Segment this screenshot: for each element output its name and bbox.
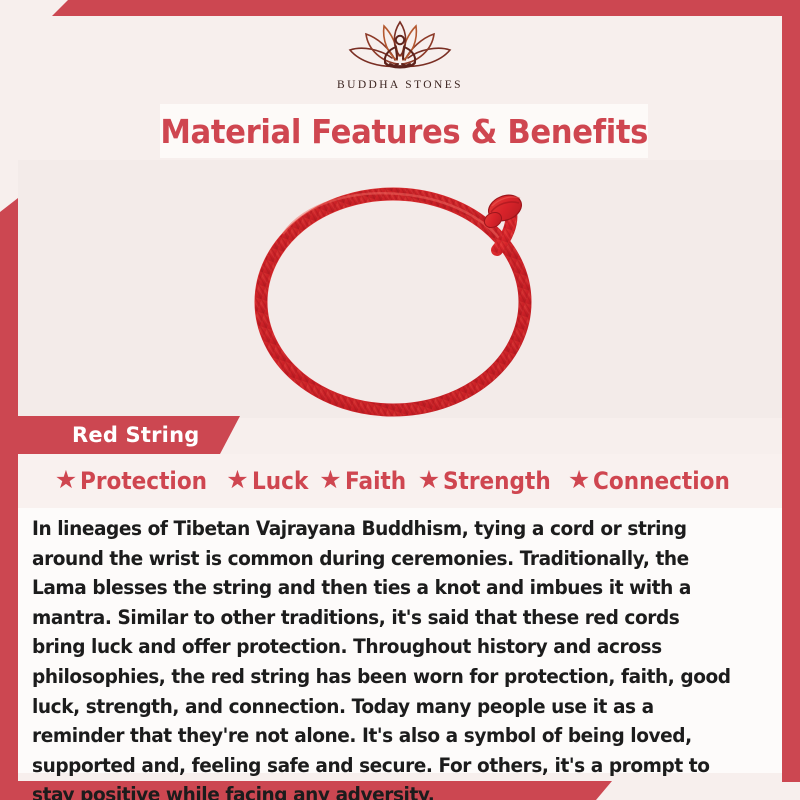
brand-wordmark: BUDDHA STONES <box>337 79 463 91</box>
page-title-text: Material Features & Benefits <box>160 112 648 151</box>
product-image <box>18 160 782 418</box>
star-icon: ★ <box>226 468 248 493</box>
infographic-page: BUDDHA STONES Material Features & Benefi… <box>0 0 800 800</box>
description-text: In lineages of Tibetan Vajrayana Buddhis… <box>32 514 735 800</box>
feature-item-faith: ★ Faith <box>319 467 412 495</box>
star-icon: ★ <box>568 468 590 493</box>
left-accent-band <box>0 198 18 783</box>
feature-label: Connection <box>593 467 730 495</box>
feature-list: ★ Protection ★ Luck ★ Faith ★ Strength ★… <box>18 454 782 508</box>
feature-label: Faith <box>345 467 406 495</box>
feature-label: Luck <box>252 467 308 495</box>
lotus-meditation-figure-icon <box>340 16 460 78</box>
feature-item-strength: ★ Strength <box>418 467 563 495</box>
page-title: Material Features & Benefits <box>160 104 648 158</box>
feature-item-connection: ★ Connection <box>568 467 745 495</box>
star-icon: ★ <box>319 468 341 493</box>
right-accent-band <box>782 0 800 782</box>
top-accent-band <box>0 0 800 16</box>
feature-label: Protection <box>80 467 207 495</box>
product-label-banner: Red String <box>18 416 240 454</box>
feature-item-luck: ★ Luck <box>226 467 314 495</box>
star-icon: ★ <box>55 468 77 493</box>
description-panel: In lineages of Tibetan Vajrayana Buddhis… <box>18 508 782 773</box>
brand-logo: BUDDHA STONES <box>0 16 800 104</box>
product-label-text: Red String <box>18 423 199 447</box>
star-icon: ★ <box>418 468 440 493</box>
red-string-bracelet-illustration <box>235 160 565 418</box>
feature-label: Strength <box>443 467 551 495</box>
feature-item-protection: ★ Protection <box>55 467 222 495</box>
